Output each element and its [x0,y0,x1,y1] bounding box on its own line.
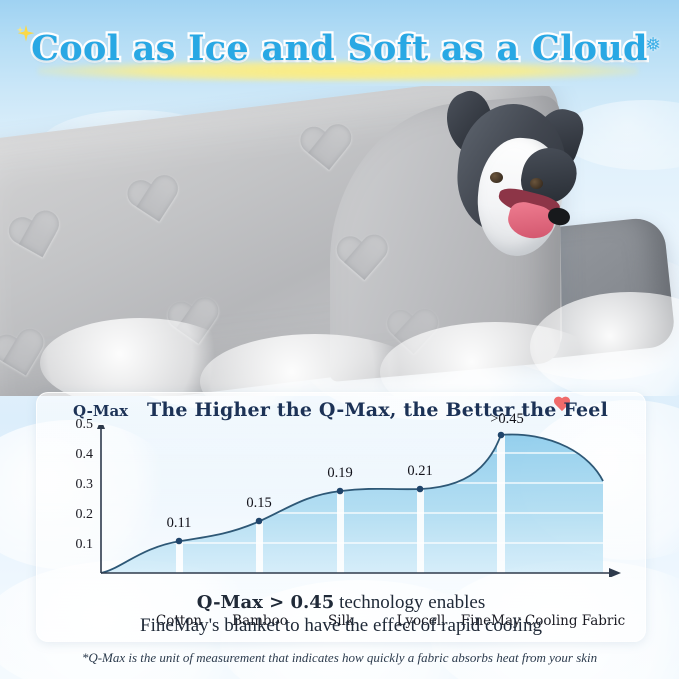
quilt-heart [298,123,357,176]
data-label: 0.11 [167,515,192,532]
chart-caption: Q-Max > 0.45 technology enables FineMay'… [37,591,645,637]
page-title: Cool as Ice and Soft as a Cloud [31,28,648,69]
data-label: >0.45 [490,411,524,428]
dog-eye-right [530,178,543,189]
hero-product-image [0,86,679,396]
caption-bold-qmax: Q-Max > 0.45 [197,592,335,613]
y-axis-arrow [97,425,105,429]
y-tick-label: 0.4 [59,447,93,463]
quilt-heart [164,296,226,353]
quilt-heart [334,234,391,286]
chart-panel: Q-Max The Higher the Q-Max, the Better t… [36,392,646,642]
x-axis-arrow [609,568,621,577]
y-tick-label: 0.1 [59,537,93,553]
caption-line-1: Q-Max > 0.45 technology enables [37,591,645,614]
caption-line1-rest: technology enables [334,592,485,613]
caption-line-2: FineMay's blanket to have the effect of … [37,614,645,637]
y-tick-label: 0.3 [59,477,93,493]
data-label: 0.21 [407,463,432,480]
data-label: 0.15 [246,495,271,512]
chart-plot-area: 0.5 0.4 0.3 0.2 0.1 0.11 0.15 0.19 0.21 … [37,425,645,577]
dog-photo [430,86,620,301]
dog-eye-left [490,172,503,183]
footnote: *Q-Max is the unit of measurement that i… [0,650,679,666]
y-tick-label: 0.2 [59,507,93,523]
chart-title: The Higher the Q-Max, the Better the Fee… [147,399,608,421]
y-tick-label: 0.5 [59,417,93,433]
page-root: Cool as Ice and Soft as a Cloud ❅ [0,0,679,679]
header-title-band: Cool as Ice and Soft as a Cloud [0,20,679,76]
area-chart-svg [37,425,645,577]
data-label: 0.19 [327,465,352,482]
quilt-heart [385,309,441,359]
snowflake-icon: ❅ [645,36,661,55]
